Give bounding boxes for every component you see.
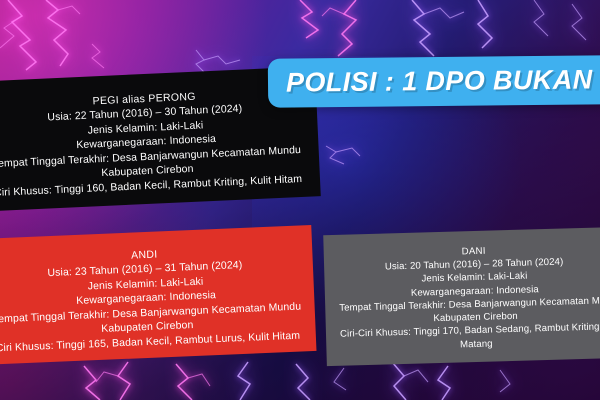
suspect-card-andi: ANDI Usia: 23 Tahun (2016) – 31 Tahun (2… xyxy=(0,225,316,365)
poster-stage: PEGI alias PERONG Usia: 22 Tahun (2016) … xyxy=(0,0,600,400)
suspect-card-dani: DANI Usia: 20 Tahun (2016) – 28 Tahun (2… xyxy=(323,227,600,366)
headline-banner: POLISI : 1 DPO BUKAN 3 xyxy=(268,55,600,108)
headline-text: POLISI : 1 DPO BUKAN 3 xyxy=(286,64,600,98)
